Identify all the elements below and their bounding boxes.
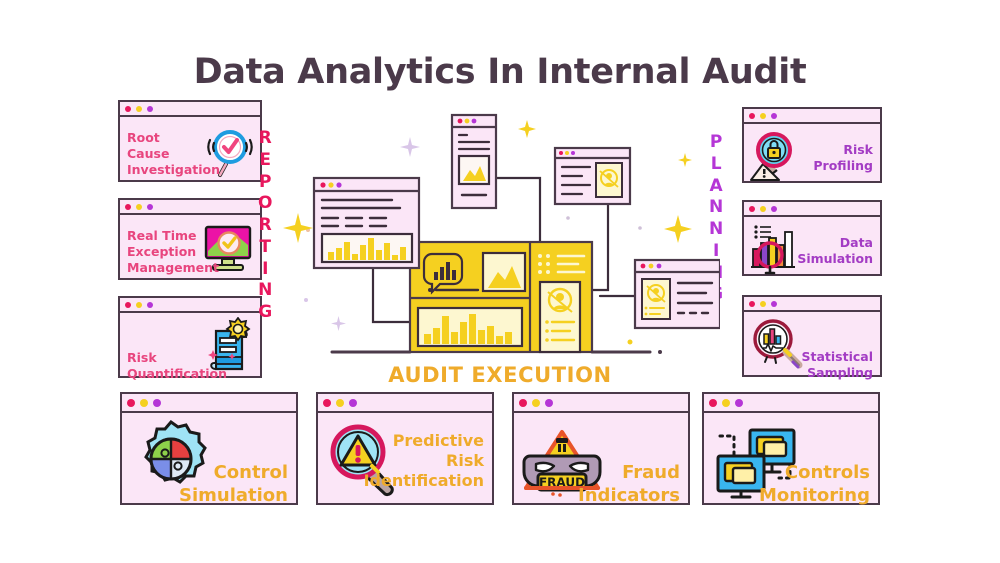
sparkle-3-icon <box>518 120 536 142</box>
titlebar-dot-purple-icon <box>147 302 153 308</box>
magnifier-lock-icon <box>749 128 805 188</box>
card-titlebar <box>120 298 260 313</box>
card-label: Fraud Indicators <box>578 462 680 507</box>
titlebar-dot-yellow-icon <box>136 302 142 308</box>
card-body: Fraud Indicators FRAUD <box>514 413 688 515</box>
titlebar-dot-red-icon <box>749 301 755 307</box>
sparkle-4-icon <box>400 137 420 161</box>
titlebar-dot-yellow-icon <box>136 106 142 112</box>
titlebar-dot-red-icon <box>519 399 527 407</box>
card-titlebar <box>704 394 878 413</box>
titlebar-dot-yellow-icon <box>760 113 766 119</box>
titlebar-dot-red-icon <box>749 113 755 119</box>
card-body: Real Time Exception Management <box>120 215 260 288</box>
sparkle-5-icon <box>331 316 346 335</box>
card-label: Risk Profiling <box>813 142 873 174</box>
titlebar-dot-yellow-icon <box>140 399 148 407</box>
titlebar-dot-purple-icon <box>147 106 153 112</box>
card-titlebar <box>120 200 260 215</box>
sparkle-6-icon <box>678 152 692 171</box>
infographic-canvas: Data Analytics In Internal Audit Root Ca… <box>0 0 1000 563</box>
card-label: Controls Monitoring <box>759 462 870 507</box>
card-body: Root Cause Investigation <box>120 117 260 190</box>
titlebar-dot-red-icon <box>323 399 331 407</box>
titlebar-dot-purple-icon <box>545 399 553 407</box>
titlebar-dot-purple-icon <box>771 113 777 119</box>
card-label: Real Time Exception Management <box>127 228 219 276</box>
titlebar-dot-purple-icon <box>349 399 357 407</box>
titlebar-dot-purple-icon <box>153 399 161 407</box>
card-control-simulation[interactable]: Control Simulation <box>120 392 298 505</box>
sparkle-2-icon <box>664 215 692 247</box>
card-titlebar <box>744 297 880 312</box>
section-label-reporting: R E P O R T I N G <box>258 128 272 324</box>
titlebar-dot-red-icon <box>125 204 131 210</box>
card-titlebar <box>120 102 260 117</box>
titlebar-dot-red-icon <box>709 399 717 407</box>
card-body: Predictive Risk Identification <box>318 413 492 509</box>
card-data-simulation[interactable]: Data Simulation <box>742 200 882 276</box>
card-predictive-risk-identification[interactable]: Predictive Risk Identification <box>316 392 494 505</box>
card-label: Risk Quantification <box>127 350 227 382</box>
audit-execution-dashboard-illustration: .ol{stroke:#4b3a4a;stroke-width:2.2;} .p… <box>300 100 720 360</box>
card-risk-profiling[interactable]: Risk Profiling <box>742 107 882 183</box>
titlebar-dot-red-icon <box>125 302 131 308</box>
titlebar-dot-purple-icon <box>771 206 777 212</box>
card-label: Data Simulation <box>797 235 873 267</box>
page-title: Data Analytics In Internal Audit <box>0 52 1000 92</box>
card-label: Predictive Risk Identification <box>364 431 484 491</box>
card-body: Control Simulation <box>122 413 296 514</box>
card-label: Root Cause Investigation <box>127 130 220 178</box>
titlebar-dot-purple-icon <box>771 301 777 307</box>
titlebar-dot-yellow-icon <box>336 399 344 407</box>
titlebar-dot-red-icon <box>749 206 755 212</box>
titlebar-dot-yellow-icon <box>136 204 142 210</box>
card-label: Control Simulation <box>179 462 288 507</box>
titlebar-dot-red-icon <box>125 106 131 112</box>
card-fraud-indicators[interactable]: Fraud Indicators FRAUD <box>512 392 690 505</box>
titlebar-dot-red-icon <box>127 399 135 407</box>
card-body: Controls Monitoring <box>704 413 878 515</box>
card-titlebar <box>744 202 880 217</box>
card-controls-monitoring[interactable]: Controls Monitoring <box>702 392 880 505</box>
card-titlebar <box>514 394 688 413</box>
card-label: Statistical Sampling <box>801 349 873 381</box>
card-real-time-exception-management[interactable]: Real Time Exception Management <box>118 198 262 280</box>
card-body: Risk Profiling <box>744 124 880 191</box>
titlebar-dot-yellow-icon <box>760 206 766 212</box>
card-titlebar <box>744 109 880 124</box>
card-titlebar <box>122 394 296 413</box>
titlebar-dot-purple-icon <box>147 204 153 210</box>
titlebar-dot-yellow-icon <box>722 399 730 407</box>
card-titlebar <box>318 394 492 413</box>
sparkle-1-icon <box>283 213 313 247</box>
card-body: Data Simulation <box>744 217 880 284</box>
titlebar-dot-yellow-icon <box>760 301 766 307</box>
card-root-cause-investigation[interactable]: Root Cause Investigation <box>118 100 262 182</box>
titlebar-dot-purple-icon <box>735 399 743 407</box>
titlebar-dot-yellow-icon <box>532 399 540 407</box>
